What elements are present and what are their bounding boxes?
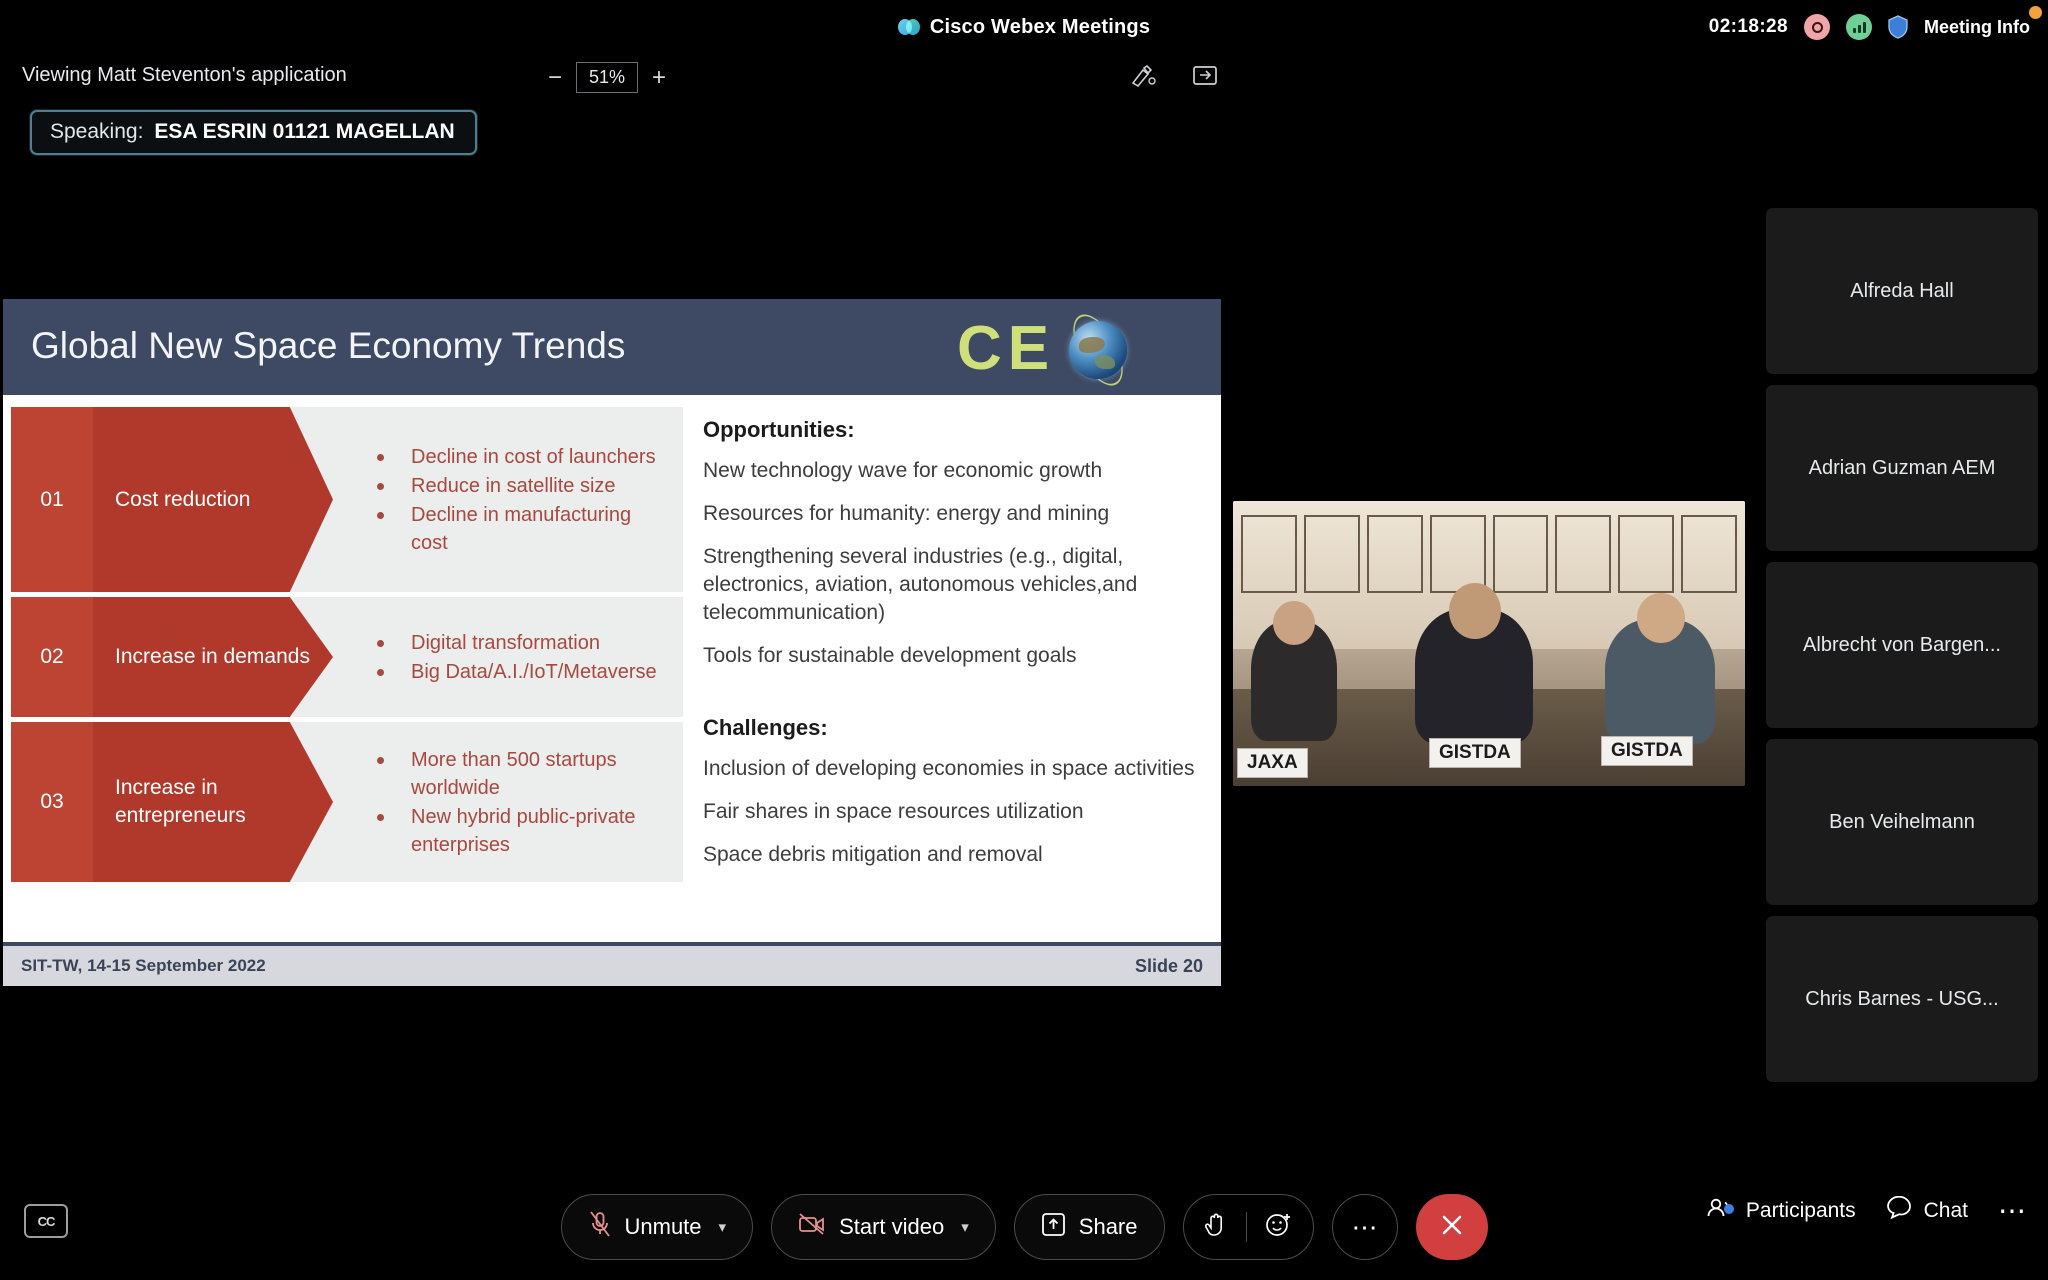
recording-icon[interactable]	[1804, 14, 1830, 40]
slide-footer-left: SIT-TW, 14-15 September 2022	[21, 956, 266, 976]
list-item: Decline in manufacturing cost	[375, 501, 673, 557]
speaking-indicator: Speaking: ESA ESRIN 01121 MAGELLAN	[30, 110, 477, 155]
speaking-participant-name: ESA ESRIN 01121 MAGELLAN	[154, 120, 454, 144]
emoji-reaction-icon[interactable]	[1265, 1211, 1293, 1244]
zoom-level-value[interactable]: 51%	[576, 62, 638, 93]
opportunity-item: Strengthening several industries (e.g., …	[703, 543, 1211, 627]
challenge-item: Inclusion of developing economies in spa…	[703, 755, 1211, 783]
row-label: Increase in entrepreneurs	[93, 722, 333, 882]
end-meeting-button[interactable]	[1416, 1194, 1488, 1260]
row-label: Increase in demands	[93, 597, 333, 717]
challenge-item: Space debris mitigation and removal	[703, 841, 1211, 869]
slide-header: Global New Space Economy Trends CE S	[3, 299, 1221, 395]
meeting-info-button[interactable]: Meeting Info	[1924, 17, 2030, 38]
row-bullets: Decline in cost of launchers Reduce in s…	[333, 407, 683, 592]
slide-footer: SIT-TW, 14-15 September 2022 Slide 20	[3, 942, 1221, 986]
zoom-control-group: − 51% +	[548, 62, 666, 93]
slide-title: Global New Space Economy Trends	[31, 325, 625, 367]
challenges-heading: Challenges:	[703, 715, 1211, 741]
bottom-toolbar: CC Unmute ▾ Start video ▾ Shar	[0, 1176, 2048, 1280]
slide-number: Slide 20	[1135, 956, 1203, 977]
table-row: 01 Cost reduction Decline in cost of lau…	[11, 407, 683, 592]
share-status-bar: Viewing Matt Steventon's application − 5…	[0, 64, 1230, 96]
webex-logo-icon	[898, 19, 920, 35]
top-bar-status-group: 02:18:28 Meeting Info	[1709, 0, 2030, 54]
share-tools-group	[1130, 64, 1218, 88]
unmute-label: Unmute	[625, 1214, 702, 1240]
chevron-down-icon[interactable]: ▾	[719, 1218, 727, 1236]
share-screen-icon	[1041, 1212, 1066, 1243]
start-video-label: Start video	[839, 1214, 944, 1240]
participant-tiles: Alfreda Hall Adrian Guzman AEM Albrecht …	[1766, 208, 2038, 1093]
participant-tile[interactable]: Chris Barnes - USG...	[1766, 916, 2038, 1082]
reactions-group	[1183, 1194, 1314, 1260]
meeting-timer: 02:18:28	[1709, 16, 1788, 38]
list-item: Reduce in satellite size	[375, 472, 673, 500]
slide-right-column: Opportunities: New technology wave for e…	[703, 417, 1211, 884]
fit-to-screen-icon[interactable]	[1192, 64, 1218, 88]
participant-tile[interactable]: Ben Veihelmann	[1766, 739, 2038, 905]
list-item: New hybrid public-private enterprises	[375, 803, 673, 859]
list-item: Decline in cost of launchers	[375, 443, 673, 471]
name-plate: GISTDA	[1429, 738, 1521, 768]
participants-label: Participants	[1746, 1199, 1856, 1223]
shared-slide[interactable]: Global New Space Economy Trends CE S 01 …	[3, 299, 1221, 986]
person-left-head	[1273, 601, 1315, 645]
right-controls-group: Participants Chat ⋯	[1706, 1194, 2026, 1227]
row-number: 02	[11, 597, 93, 717]
share-button[interactable]: Share	[1014, 1194, 1165, 1260]
more-right-button[interactable]: ⋯	[1998, 1194, 2026, 1227]
opportunity-item: Tools for sustainable development goals	[703, 642, 1211, 670]
participant-tile[interactable]: Alfreda Hall	[1766, 208, 2038, 374]
name-plate: JAXA	[1237, 748, 1308, 778]
notification-dot-icon	[2029, 6, 2042, 19]
chat-label: Chat	[1924, 1199, 1968, 1223]
person-right-head	[1637, 593, 1685, 643]
shield-icon	[1888, 15, 1908, 39]
zoom-out-button[interactable]: −	[548, 66, 562, 90]
start-video-button[interactable]: Start video ▾	[771, 1194, 996, 1260]
top-bar: Cisco Webex Meetings 02:18:28 Meeting In…	[0, 0, 2048, 54]
list-item: More than 500 startups worldwide	[375, 746, 673, 802]
participants-badge-dot	[1724, 1204, 1734, 1214]
camera-off-icon	[798, 1212, 826, 1242]
chat-button[interactable]: Chat	[1886, 1196, 1968, 1226]
share-label: Share	[1079, 1214, 1138, 1240]
annotate-icon[interactable]	[1130, 64, 1156, 88]
name-plate: GISTDA	[1601, 736, 1693, 766]
presenter-video-thumbnail[interactable]: JAXA GISTDA GISTDA	[1233, 501, 1745, 786]
slide-body: 01 Cost reduction Decline in cost of lau…	[3, 395, 1221, 942]
opportunity-item: Resources for humanity: energy and minin…	[703, 500, 1211, 528]
raise-hand-icon[interactable]	[1204, 1211, 1228, 1244]
opportunities-heading: Opportunities:	[703, 417, 1211, 443]
row-number: 01	[11, 407, 93, 592]
app-title: Cisco Webex Meetings	[930, 16, 1150, 39]
zoom-in-button[interactable]: +	[652, 66, 666, 90]
wall-frames	[1241, 515, 1737, 593]
ceos-logo: CE S	[951, 303, 1201, 395]
participant-tile[interactable]: Adrian Guzman AEM	[1766, 385, 2038, 551]
end-meeting-icon	[1439, 1212, 1465, 1243]
row-number: 03	[11, 722, 93, 882]
viewing-label: Viewing Matt Steventon's application	[22, 64, 347, 87]
list-item: Big Data/A.I./IoT/Metaverse	[375, 658, 673, 686]
unmute-button[interactable]: Unmute ▾	[561, 1194, 754, 1260]
speaking-label: Speaking:	[50, 120, 143, 144]
network-signal-icon[interactable]	[1846, 14, 1872, 40]
trend-rows: 01 Cost reduction Decline in cost of lau…	[11, 407, 683, 887]
chevron-down-icon[interactable]: ▾	[961, 1218, 969, 1236]
webex-meeting-window: Cisco Webex Meetings 02:18:28 Meeting In…	[0, 0, 2048, 1280]
microphone-muted-icon	[588, 1210, 612, 1244]
more-options-button[interactable]: ⋯	[1332, 1194, 1398, 1260]
participant-tile[interactable]: Albrecht von Bargen...	[1766, 562, 2038, 728]
row-label: Cost reduction	[93, 407, 333, 592]
ceos-earth-globe-icon	[1069, 321, 1127, 379]
row-bullets: Digital transformation Big Data/A.I./IoT…	[333, 597, 683, 717]
list-item: Digital transformation	[375, 629, 673, 657]
opportunity-item: New technology wave for economic growth	[703, 457, 1211, 485]
person-center-head	[1449, 583, 1501, 639]
participants-button[interactable]: Participants	[1706, 1196, 1856, 1226]
challenge-item: Fair shares in space resources utilizati…	[703, 798, 1211, 826]
table-row: 02 Increase in demands Digital transform…	[11, 597, 683, 717]
table-row: 03 Increase in entrepreneurs More than 5…	[11, 722, 683, 882]
chat-bubble-icon	[1886, 1196, 1912, 1226]
row-bullets: More than 500 startups worldwide New hyb…	[333, 722, 683, 882]
